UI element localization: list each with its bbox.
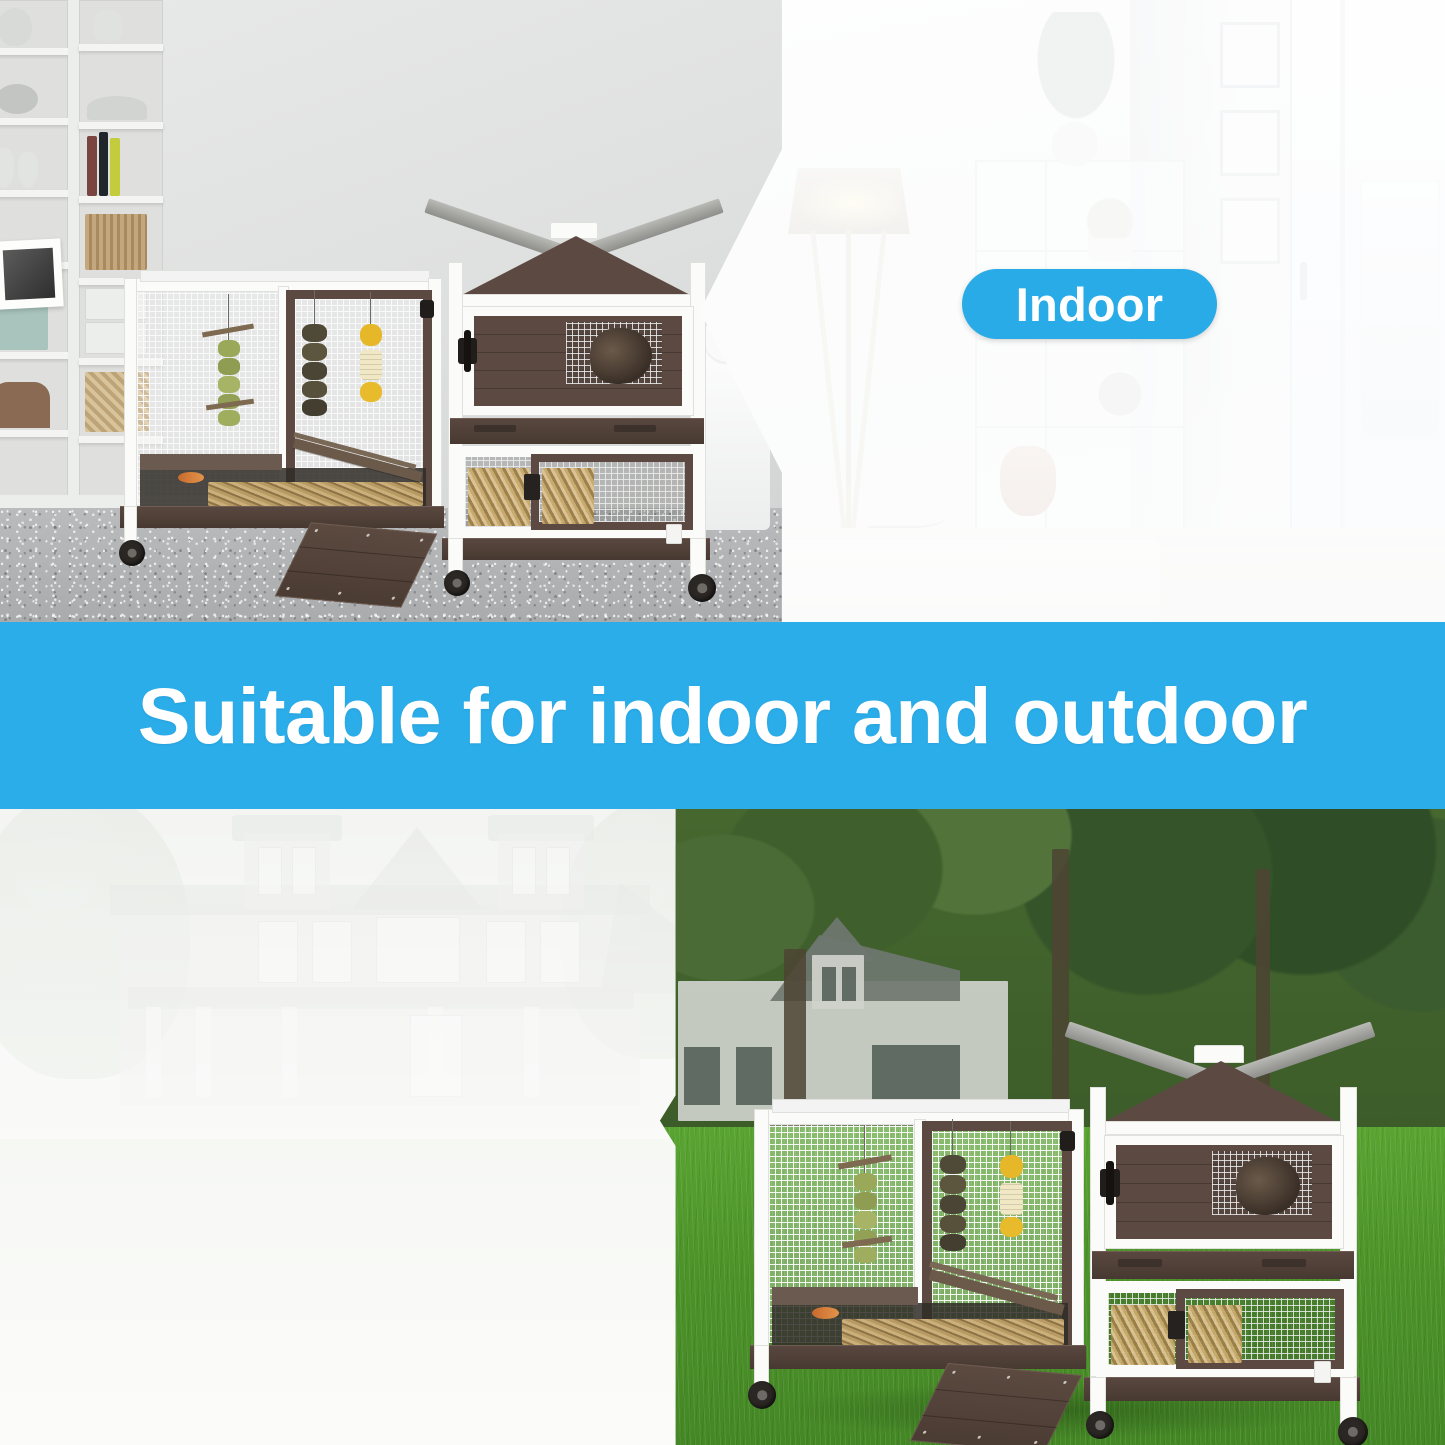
panel-fade-overlay: [0, 809, 700, 1445]
exit-ramp: [910, 1363, 1082, 1445]
gable-panel: [456, 236, 696, 298]
base-clip: [1314, 1361, 1331, 1383]
shelf-green-box: [0, 306, 48, 350]
shelf-bowl: [0, 84, 38, 114]
shelf-books: [0, 382, 50, 428]
toy-string: [228, 294, 229, 340]
gable-trim: [1090, 1121, 1356, 1135]
run-door-hinge: [420, 300, 434, 318]
run-inner-ledge: [772, 1287, 918, 1305]
run-carrot-treat: [812, 1307, 839, 1319]
shelf-glassware: [18, 152, 38, 188]
shelf-books: [99, 132, 108, 196]
caster-wheel: [444, 570, 470, 596]
run-base-skirt: [120, 506, 444, 528]
shelf-bowls: [87, 96, 147, 120]
run-top-lid: [772, 1099, 1070, 1113]
run-base-skirt: [750, 1345, 1086, 1369]
shelf-books: [110, 138, 120, 196]
caster-wheel: [688, 574, 716, 602]
panel-outdoor-house: Outdoor: [0, 809, 700, 1445]
rabbit-hutch-outdoor: [748, 969, 1408, 1439]
toy-kabob-right: [940, 1155, 966, 1251]
run-inner-ledge: [140, 454, 282, 470]
product-marketing-image: Indoor Suitable for indoor and outdoor: [0, 0, 1445, 1445]
caster-wheel: [748, 1381, 776, 1409]
roof-ridge-cap: [550, 222, 598, 239]
rabbit-hutch-indoor: [118, 206, 748, 606]
hay-bedding-right: [1188, 1305, 1242, 1363]
hay-bedding-left: [1111, 1305, 1175, 1365]
caster-wheel: [1338, 1417, 1368, 1445]
tray-handle: [474, 425, 516, 432]
toy-feeder-yellow: [360, 324, 382, 402]
shelf-pitcher: [93, 10, 123, 42]
hay-bedding-right: [542, 468, 594, 524]
base-clip: [666, 524, 682, 544]
hay-bedding-left: [468, 468, 530, 526]
toy-kabob-left: [218, 340, 240, 426]
framed-photo: [0, 238, 64, 309]
badge-indoor-label: Indoor: [1016, 277, 1163, 332]
upper-door-hinge-pin: [1106, 1161, 1114, 1205]
exit-ramp: [275, 522, 437, 608]
lower-door-latch: [524, 474, 540, 500]
toy-string: [314, 290, 315, 324]
roof-ridge-cap: [1194, 1045, 1244, 1063]
tray-handle: [1262, 1259, 1306, 1267]
banner-text: Suitable for indoor and outdoor: [138, 676, 1307, 755]
house-window: [684, 1047, 720, 1105]
toy-string: [952, 1119, 953, 1155]
badge-indoor: Indoor: [962, 269, 1217, 339]
shelf-vase: [0, 8, 32, 46]
lower-door-latch: [1168, 1311, 1185, 1339]
bookshelf-divider: [68, 0, 79, 520]
run-door-hinge: [1060, 1131, 1075, 1151]
run-post-left: [124, 278, 137, 528]
toy-string: [864, 1125, 865, 1173]
shelf-books: [87, 136, 97, 196]
run-top-lid: [140, 270, 430, 282]
caster-wheel: [119, 540, 145, 566]
run-post-left: [754, 1109, 769, 1365]
toy-string: [1010, 1121, 1011, 1155]
gable-panel: [1098, 1061, 1344, 1125]
run-bedding: [208, 482, 423, 506]
toy-string: [370, 292, 371, 324]
panel-indoor-product: [0, 0, 790, 622]
tray-handle: [1118, 1259, 1162, 1267]
banner-suitable-indoor-outdoor: Suitable for indoor and outdoor: [0, 622, 1445, 809]
toy-kabob-left: [854, 1173, 877, 1263]
toy-kabob-right: [302, 324, 327, 416]
panel-outdoor-lawn: [660, 809, 1445, 1445]
upper-door-hinge-pin: [464, 330, 471, 372]
run-bedding: [842, 1319, 1064, 1345]
shelf-glassware: [0, 148, 14, 188]
run-carrot-treat: [178, 472, 204, 483]
panel-indoor-room: Indoor: [700, 0, 1445, 622]
caster-wheel: [1086, 1411, 1114, 1439]
toy-feeder-yellow: [1000, 1155, 1023, 1237]
tray-handle: [614, 425, 656, 432]
